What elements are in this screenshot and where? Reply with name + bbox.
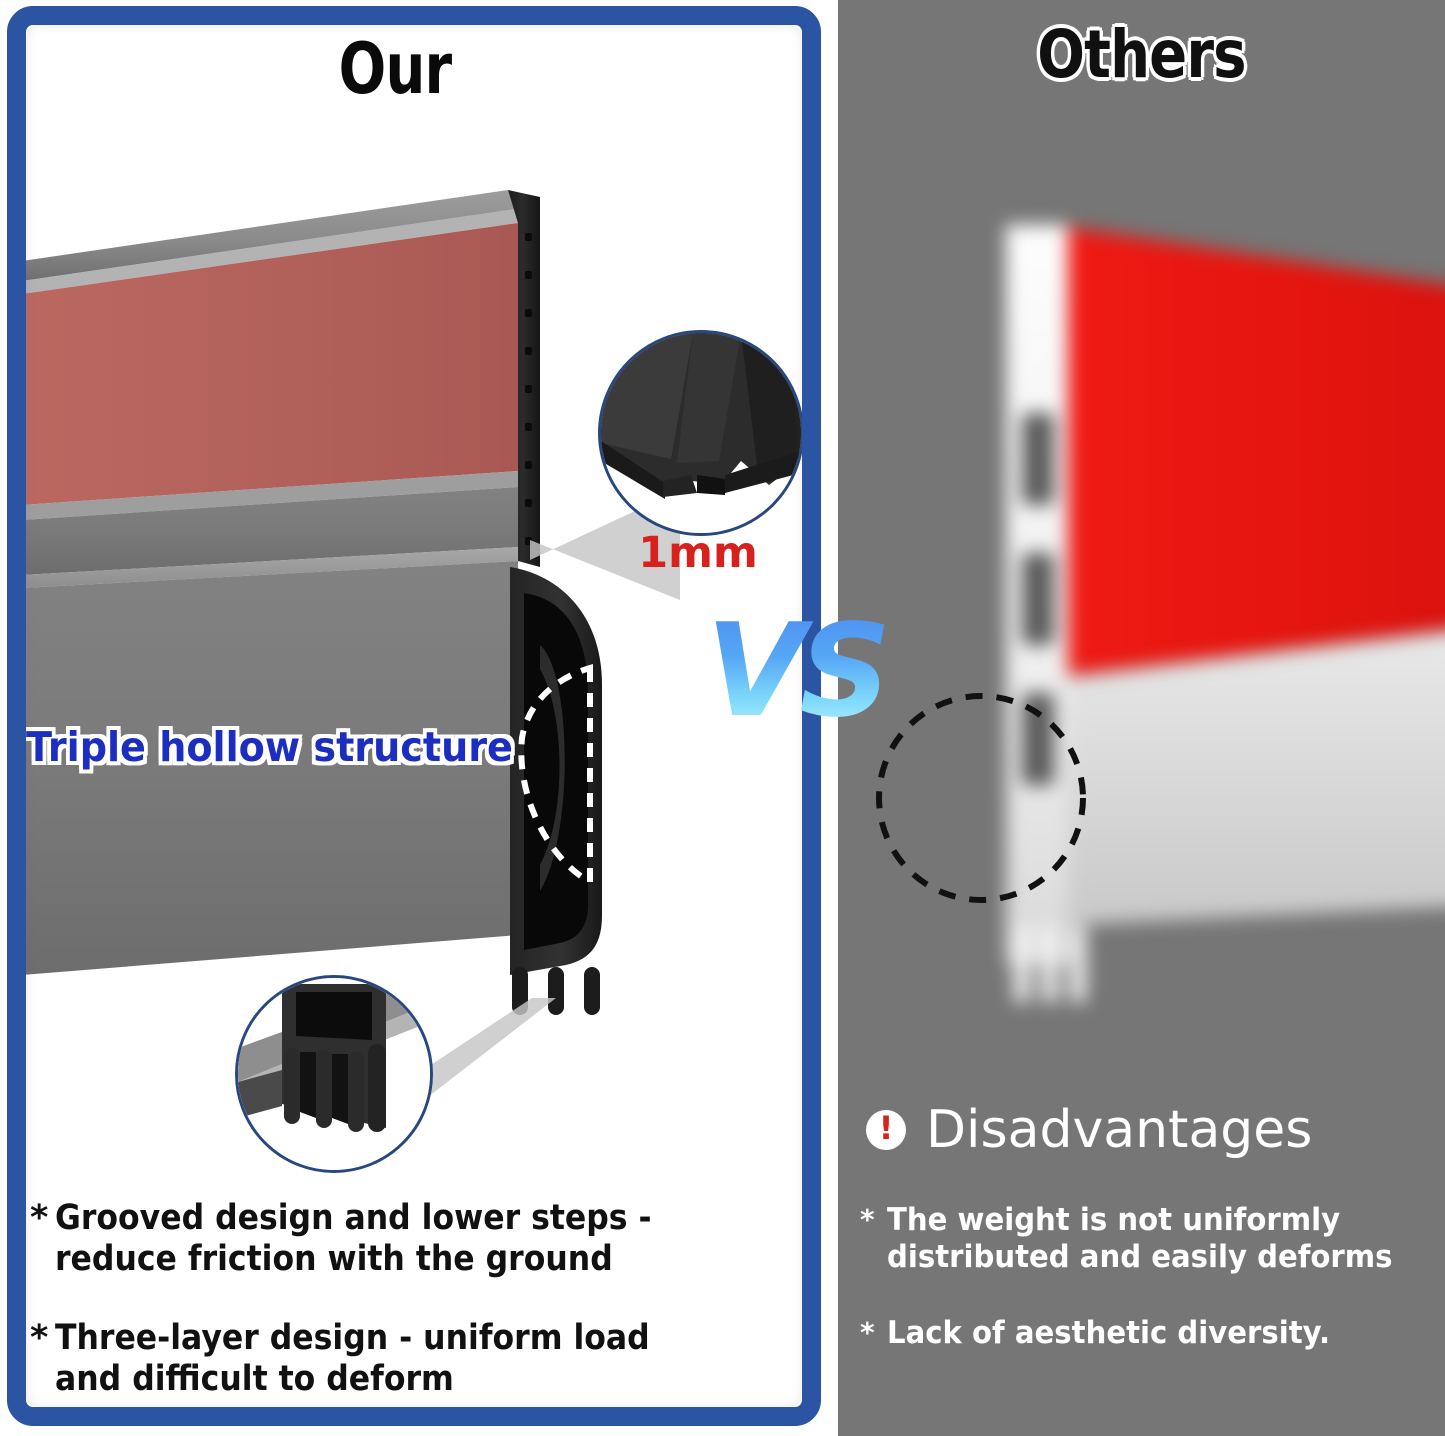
competitor-disadvantages-list: * The weight is not uniformly distribute…	[860, 1202, 1438, 1392]
list-item: * Grooved design and lower steps - reduc…	[30, 1198, 800, 1280]
competitor-hollow-highlight-dashed-circle	[862, 680, 1112, 920]
list-item: * Three-layer design - uniform load and …	[30, 1318, 800, 1400]
our-benefit-text: Grooved design and lower steps - reduce …	[55, 1198, 725, 1280]
exclamation-mark-icon: !	[866, 1110, 906, 1150]
disadvantage-text: Lack of aesthetic diversity.	[887, 1315, 1405, 1352]
disadvantages-heading: ! Disadvantages	[866, 1104, 1312, 1156]
exclamation-glyph: !	[879, 1112, 894, 1144]
list-item: * Lack of aesthetic diversity.	[860, 1315, 1438, 1352]
others-heading: Others	[884, 22, 1400, 88]
list-item: * The weight is not uniformly distribute…	[860, 1202, 1438, 1275]
disadvantage-text: The weight is not uniformly distributed …	[887, 1202, 1405, 1275]
our-benefits-list: * Grooved design and lower steps - reduc…	[30, 1198, 800, 1436]
triple-hollow-dashed-highlight	[490, 560, 660, 1010]
disadvantages-title-text: Disadvantages	[926, 1104, 1312, 1156]
our-benefit-text: Three-layer design - uniform load and di…	[55, 1318, 725, 1400]
magnifier-1mm-step-detail	[598, 330, 804, 536]
asterisk-bullet-icon: *	[30, 1198, 48, 1239]
comparison-infographic: Others Our	[0, 0, 1445, 1436]
feature-label-triple-hollow-structure: Triple hollow structure	[26, 727, 513, 768]
our-heading: Our	[79, 34, 711, 104]
asterisk-bullet-icon: *	[860, 1202, 875, 1237]
asterisk-bullet-icon: *	[860, 1315, 875, 1350]
asterisk-bullet-icon: *	[30, 1318, 48, 1359]
magnifier-groove-detail	[235, 975, 433, 1173]
versus-badge: VS	[706, 608, 885, 736]
measurement-label-1mm: 1mm	[598, 528, 798, 578]
